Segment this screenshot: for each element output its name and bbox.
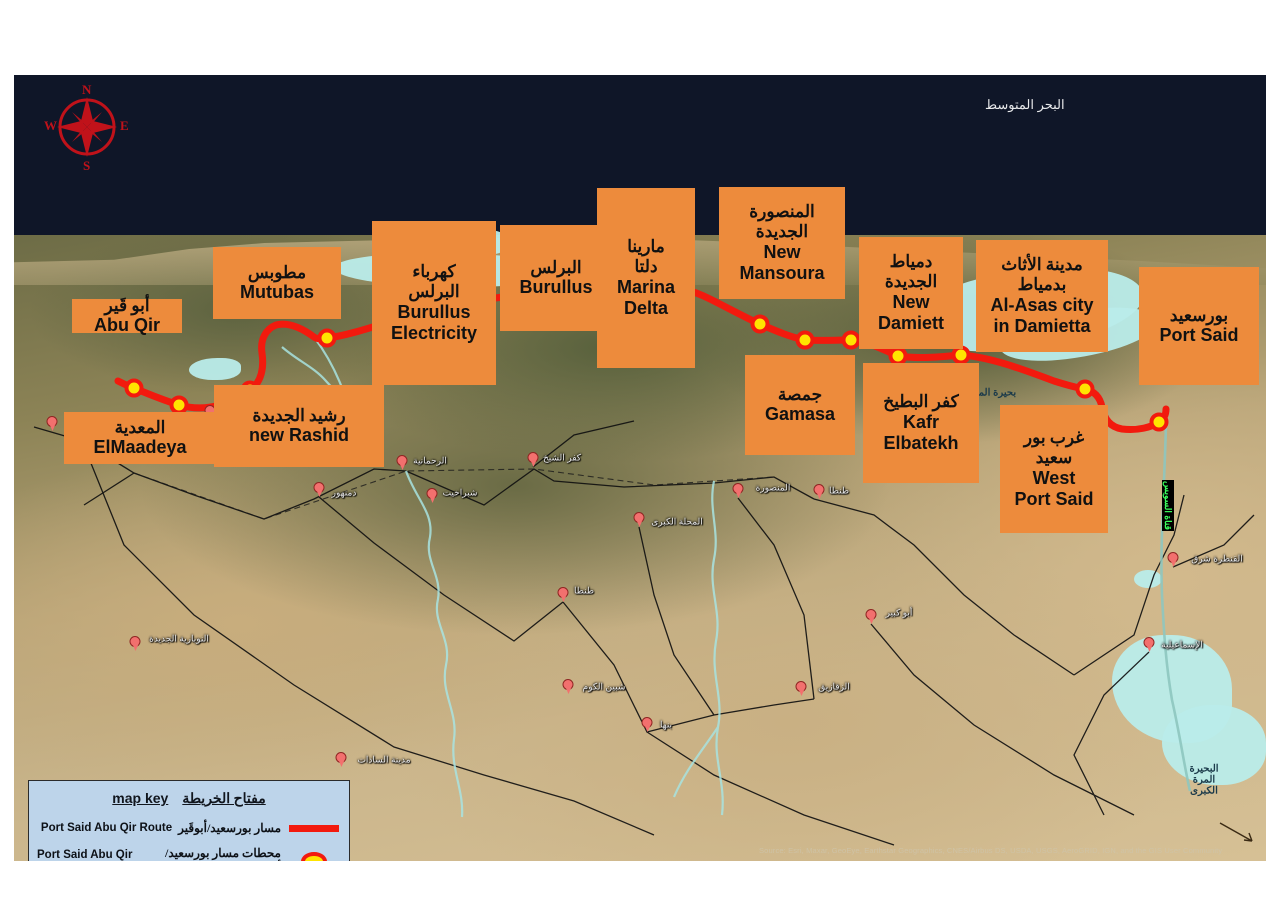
station-abu-qir[interactable] xyxy=(125,379,144,398)
pin-tanta-north[interactable] xyxy=(814,484,825,499)
pin-label-abu-kebir: أبو كبير xyxy=(886,608,913,619)
compass-west-label: W xyxy=(44,118,57,134)
pin-label-sadat-city: مدينة السادات xyxy=(357,755,410,766)
legend-stations-label-en: Port Said Abu Qir stations xyxy=(37,849,155,861)
callout-kafr-elbatekh-en: Kafr Elbatekh xyxy=(883,412,958,454)
callout-marina-delta-en: Marina Delta xyxy=(617,277,675,319)
pin-el-qantara[interactable] xyxy=(1168,552,1179,567)
callout-abu-qir-ar: أبو قَير xyxy=(104,296,149,316)
callout-new-damiett-en: New Damiett xyxy=(878,292,944,334)
callout-new-rashid-en: new Rashid xyxy=(249,425,349,446)
pin-el-rahmaniya[interactable] xyxy=(397,455,408,470)
callout-new-rashid[interactable]: رشيد الجديدةnew Rashid xyxy=(214,385,384,467)
legend-stations: Port Said Abu Qir stations محطات مسار بو… xyxy=(37,849,341,861)
callout-west-port-said[interactable]: غرب بور سعيدWest Port Said xyxy=(1000,405,1108,533)
pin-label-tanta: طنطا xyxy=(574,586,594,597)
pin-tanta[interactable] xyxy=(558,587,569,602)
pin-new-nubaria[interactable] xyxy=(130,636,141,651)
compass-north-label: N xyxy=(82,82,91,98)
callout-new-damiett[interactable]: دمياط الجديدةNew Damiett xyxy=(859,237,963,349)
pin-ismailia[interactable] xyxy=(1144,637,1155,652)
compass-east-label: E xyxy=(120,118,129,134)
callout-new-mansoura-en: New Mansoura xyxy=(739,242,824,284)
pin-zagazig[interactable] xyxy=(796,681,807,696)
callout-new-damiett-ar: دمياط الجديدة xyxy=(885,252,937,291)
pin-label-el-rahmaniya: الرحمانية xyxy=(413,456,447,467)
station-dot-icon xyxy=(301,852,327,862)
callout-gamasa-ar: جمصة xyxy=(778,385,822,405)
callout-elmaadeya-en: ElMaadeya xyxy=(93,437,186,458)
callout-elmaadeya-ar: المعدية xyxy=(115,418,166,438)
legend-route: Port Said Abu Qir Route مسار بورسعيد/أبو… xyxy=(37,816,341,840)
scale-arrow-icon xyxy=(1218,821,1258,847)
pin-shebin-el-kom[interactable] xyxy=(563,679,574,694)
map-canvas[interactable]: قناة السويس البحر المتوسط xyxy=(14,75,1266,861)
compass-rose: N S E W xyxy=(32,80,142,180)
callout-port-said[interactable]: بورسعيدPort Said xyxy=(1139,267,1259,385)
pin-label-el-mahalla: المحلة الكبرى xyxy=(651,517,703,528)
callout-burullus[interactable]: البرلسBurullus xyxy=(500,225,612,331)
legend-route-label-ar: مسار بورسعيد/أبوقَير xyxy=(178,821,281,836)
pin-label-kafr-el-sheikh: كفر الشيخ xyxy=(543,453,581,464)
pin-label-el-qantara: القنطرة شرق xyxy=(1191,554,1243,565)
station-new-damiett[interactable] xyxy=(842,331,861,350)
callout-port-said-en: Port Said xyxy=(1159,325,1238,346)
legend-title-ar: مفتاح الخريطة xyxy=(182,791,265,808)
pin-abu-kebir[interactable] xyxy=(866,609,877,624)
callout-marina-delta-ar: مارينا دلتا xyxy=(627,237,665,276)
suez-canal-label: قناة السويس xyxy=(1162,480,1174,531)
pin-label-ismailia: الإسماعيلية xyxy=(1161,640,1203,651)
pin-label-new-nubaria: النوبارية الجديدة xyxy=(149,634,209,645)
legend-route-swatch xyxy=(287,825,341,832)
pin-label-shubrakhit: شبراخيت xyxy=(443,488,478,499)
pin-label-zagazig: الزقازيق xyxy=(818,682,850,693)
callout-kafr-elbatekh[interactable]: كفر البطيخKafr Elbatekh xyxy=(863,363,979,483)
station-gamasa[interactable] xyxy=(796,331,815,350)
station-west-ps[interactable] xyxy=(1076,380,1095,399)
station-port-said[interactable] xyxy=(1150,413,1169,432)
pin-el-mahalla[interactable] xyxy=(634,512,645,527)
pin-label-benha: بنها xyxy=(660,720,672,731)
station-new-mansoura[interactable] xyxy=(751,315,770,334)
pin-label-el-mansoura: المنصورة xyxy=(756,483,791,494)
callout-gamasa-en: Gamasa xyxy=(765,404,835,425)
callout-gamasa[interactable]: جمصةGamasa xyxy=(745,355,855,455)
pin-sadat-city[interactable] xyxy=(336,752,347,767)
pin-label-tanta-north: طنطا xyxy=(829,486,849,497)
pin-benha[interactable] xyxy=(642,717,653,732)
legend-title: map key مفتاح الخريطة xyxy=(37,790,341,808)
station-mutubas[interactable] xyxy=(318,329,337,348)
pin-label-shebin-el-kom: شبين الكوم xyxy=(583,682,626,693)
pin-kafr-el-sheikh[interactable] xyxy=(528,452,539,467)
mediterranean-sea-label: البحر المتوسط xyxy=(985,97,1065,113)
callout-mutubas-en: Mutubas xyxy=(240,282,314,303)
callout-burullus-en: Burullus xyxy=(519,277,592,298)
callout-abu-qir-en: Abu Qir xyxy=(94,315,160,336)
route-line-icon xyxy=(289,825,339,832)
legend-title-en: map key xyxy=(112,790,168,806)
callout-burullus-electricity-ar: كهرباء البرلس xyxy=(408,262,459,301)
callout-new-mansoura[interactable]: المنصورة الجديدةNew Mansoura xyxy=(719,187,845,299)
legend-route-label-en: Port Said Abu Qir Route xyxy=(41,822,172,834)
callout-mutubas[interactable]: مطوبسMutubas xyxy=(213,247,341,319)
callout-mutubas-ar: مطوبس xyxy=(248,263,306,283)
callout-new-rashid-ar: رشيد الجديدة xyxy=(252,406,345,426)
callout-al-asas-city[interactable]: مدينة الأثاث بدمياطAl-Asas city in Damie… xyxy=(976,240,1108,352)
compass-south-label: S xyxy=(83,158,90,174)
callout-kafr-elbatekh-ar: كفر البطيخ xyxy=(883,392,958,412)
callout-burullus-electricity[interactable]: كهرباء البرلسBurullus Electricity xyxy=(372,221,496,385)
callout-port-said-ar: بورسعيد xyxy=(1170,306,1228,326)
callout-elmaadeya[interactable]: المعديةElMaadeya xyxy=(64,412,216,464)
callout-new-mansoura-ar: المنصورة الجديدة xyxy=(749,202,815,241)
screenshot-root: قناة السويس البحر المتوسط xyxy=(0,0,1280,911)
legend-stations-label-ar: محطات مسار بورسعيد/أبوقَير xyxy=(161,846,281,861)
pin-shubrakhit[interactable] xyxy=(427,488,438,503)
callout-west-port-said-ar: غرب بور سعيد xyxy=(1024,428,1084,467)
callout-marina-delta[interactable]: مارينا دلتاMarina Delta xyxy=(597,188,695,368)
callout-abu-qir[interactable]: أبو قَيرAbu Qir xyxy=(72,299,182,333)
callout-burullus-ar: البرلس xyxy=(530,258,581,278)
pin-el-mansoura[interactable] xyxy=(733,483,744,498)
map-legend: map key مفتاح الخريطة Port Said Abu Qir … xyxy=(28,780,350,861)
map-attribution: Source: Esri, Maxar, GeoEye, Earthstar G… xyxy=(759,846,1222,855)
pin-label-damanhour: دمنهور xyxy=(332,488,357,499)
callout-west-port-said-en: West Port Said xyxy=(1014,468,1093,510)
pin-damanhour[interactable] xyxy=(314,482,325,497)
water-label-great-bitter-lake: البحيرة المرة الكبرى xyxy=(1189,764,1218,797)
pin-alexandria[interactable] xyxy=(47,416,58,431)
legend-stations-swatch xyxy=(287,852,341,862)
callout-burullus-electricity-en: Burullus Electricity xyxy=(391,302,477,344)
callout-al-asas-city-en: Al-Asas city in Damietta xyxy=(990,295,1093,337)
callout-al-asas-city-ar: مدينة الأثاث بدمياط xyxy=(1001,255,1083,294)
